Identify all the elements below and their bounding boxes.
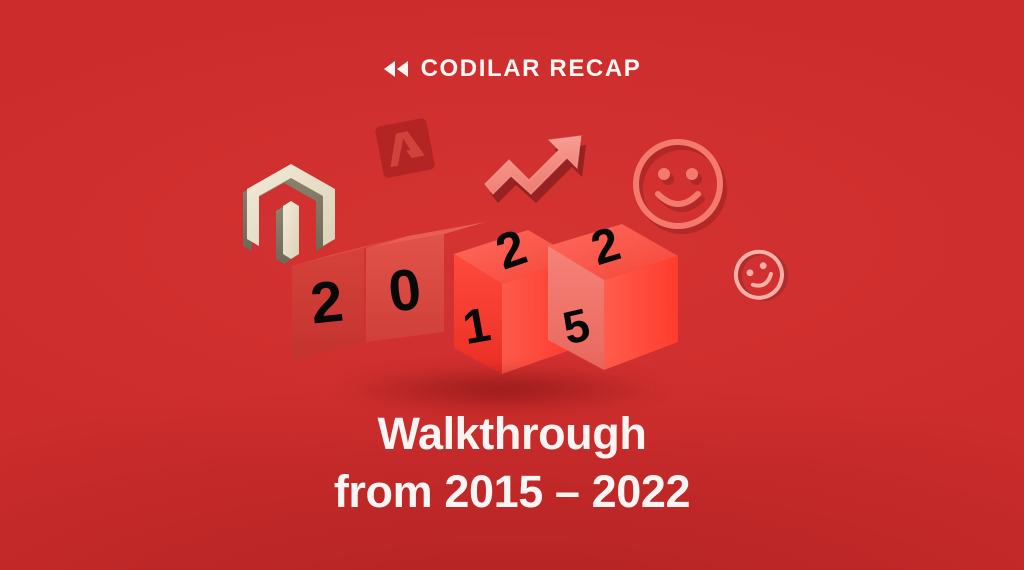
codilar-recap-banner: CODILAR RECAP <box>0 0 1024 570</box>
svg-text:2: 2 <box>307 269 346 337</box>
adobe-logo-icon <box>372 115 438 181</box>
title-line-1: Walkthrough <box>0 405 1024 463</box>
year-block-4-flipping: 2 5 <box>548 218 678 370</box>
title-line-2: from 2015 – 2022 <box>0 463 1024 521</box>
svg-text:0: 0 <box>385 257 424 325</box>
eyebrow-header: CODILAR RECAP <box>0 57 1024 81</box>
rewind-icon <box>383 60 409 78</box>
year-blocks-group: 2 0 2 1 <box>286 214 736 404</box>
eyebrow-label: CODILAR RECAP <box>421 57 642 81</box>
hero-artwork: 2 0 2 1 <box>0 104 1024 404</box>
growth-arrow-icon <box>483 128 593 208</box>
banner-title: Walkthrough from 2015 – 2022 <box>0 405 1024 521</box>
